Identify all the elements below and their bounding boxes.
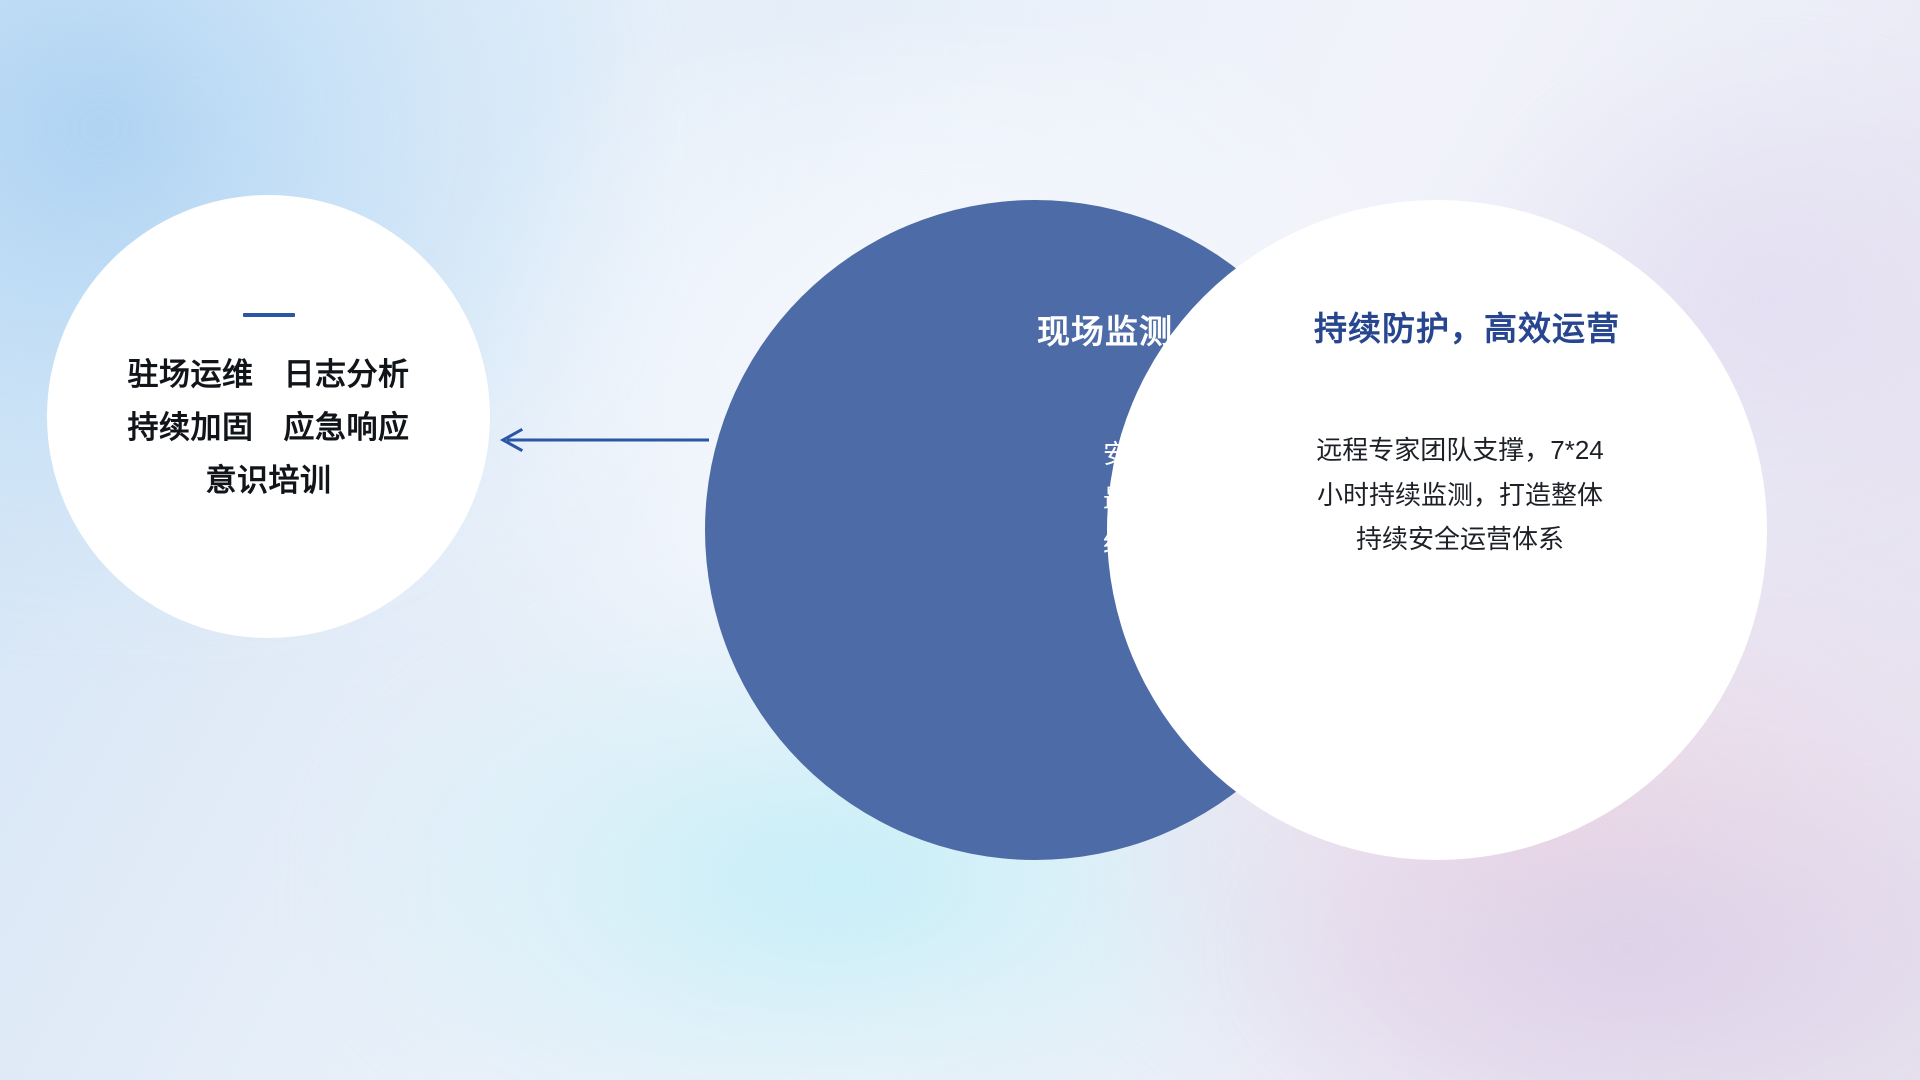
keyword-row: 持续加固 应急响应 [128,412,410,443]
right-circle-title: 持续防护，高效运营 [1107,302,1767,350]
body-line: 远程专家团队支撑，7*24 [1159,428,1761,473]
body-line: 持续安全运营体系 [1159,517,1761,562]
keyword-item: 日志分析 [284,359,410,390]
keyword-item: 持续加固 [128,412,254,443]
right-circle-body: 远程专家团队支撑，7*24 小时持续监测，打造整体 持续安全运营体系 [1107,428,1767,562]
slide-canvas: 驻场运维 日志分析 持续加固 应急响应 意识培训 现场监测，快速响应 安全专家现… [0,0,1920,1080]
keyword-item: 应急响应 [284,412,410,443]
keyword-row: 意识培训 [206,465,332,496]
right-circle-content: 持续防护，高效运营 远程专家团队支撑，7*24 小时持续监测，打造整体 持续安全… [1107,200,1767,860]
divider-dash [243,313,295,317]
keyword-item: 意识培训 [206,465,332,496]
body-line: 小时持续监测，打造整体 [1159,473,1761,518]
keyword-row: 驻场运维 日志分析 [128,359,410,390]
keyword-list: 驻场运维 日志分析 持续加固 应急响应 意识培训 [47,359,490,496]
keyword-item: 驻场运维 [128,359,254,390]
left-circle-content: 驻场运维 日志分析 持续加固 应急响应 意识培训 [47,195,490,638]
arrow-left-icon [495,418,710,462]
